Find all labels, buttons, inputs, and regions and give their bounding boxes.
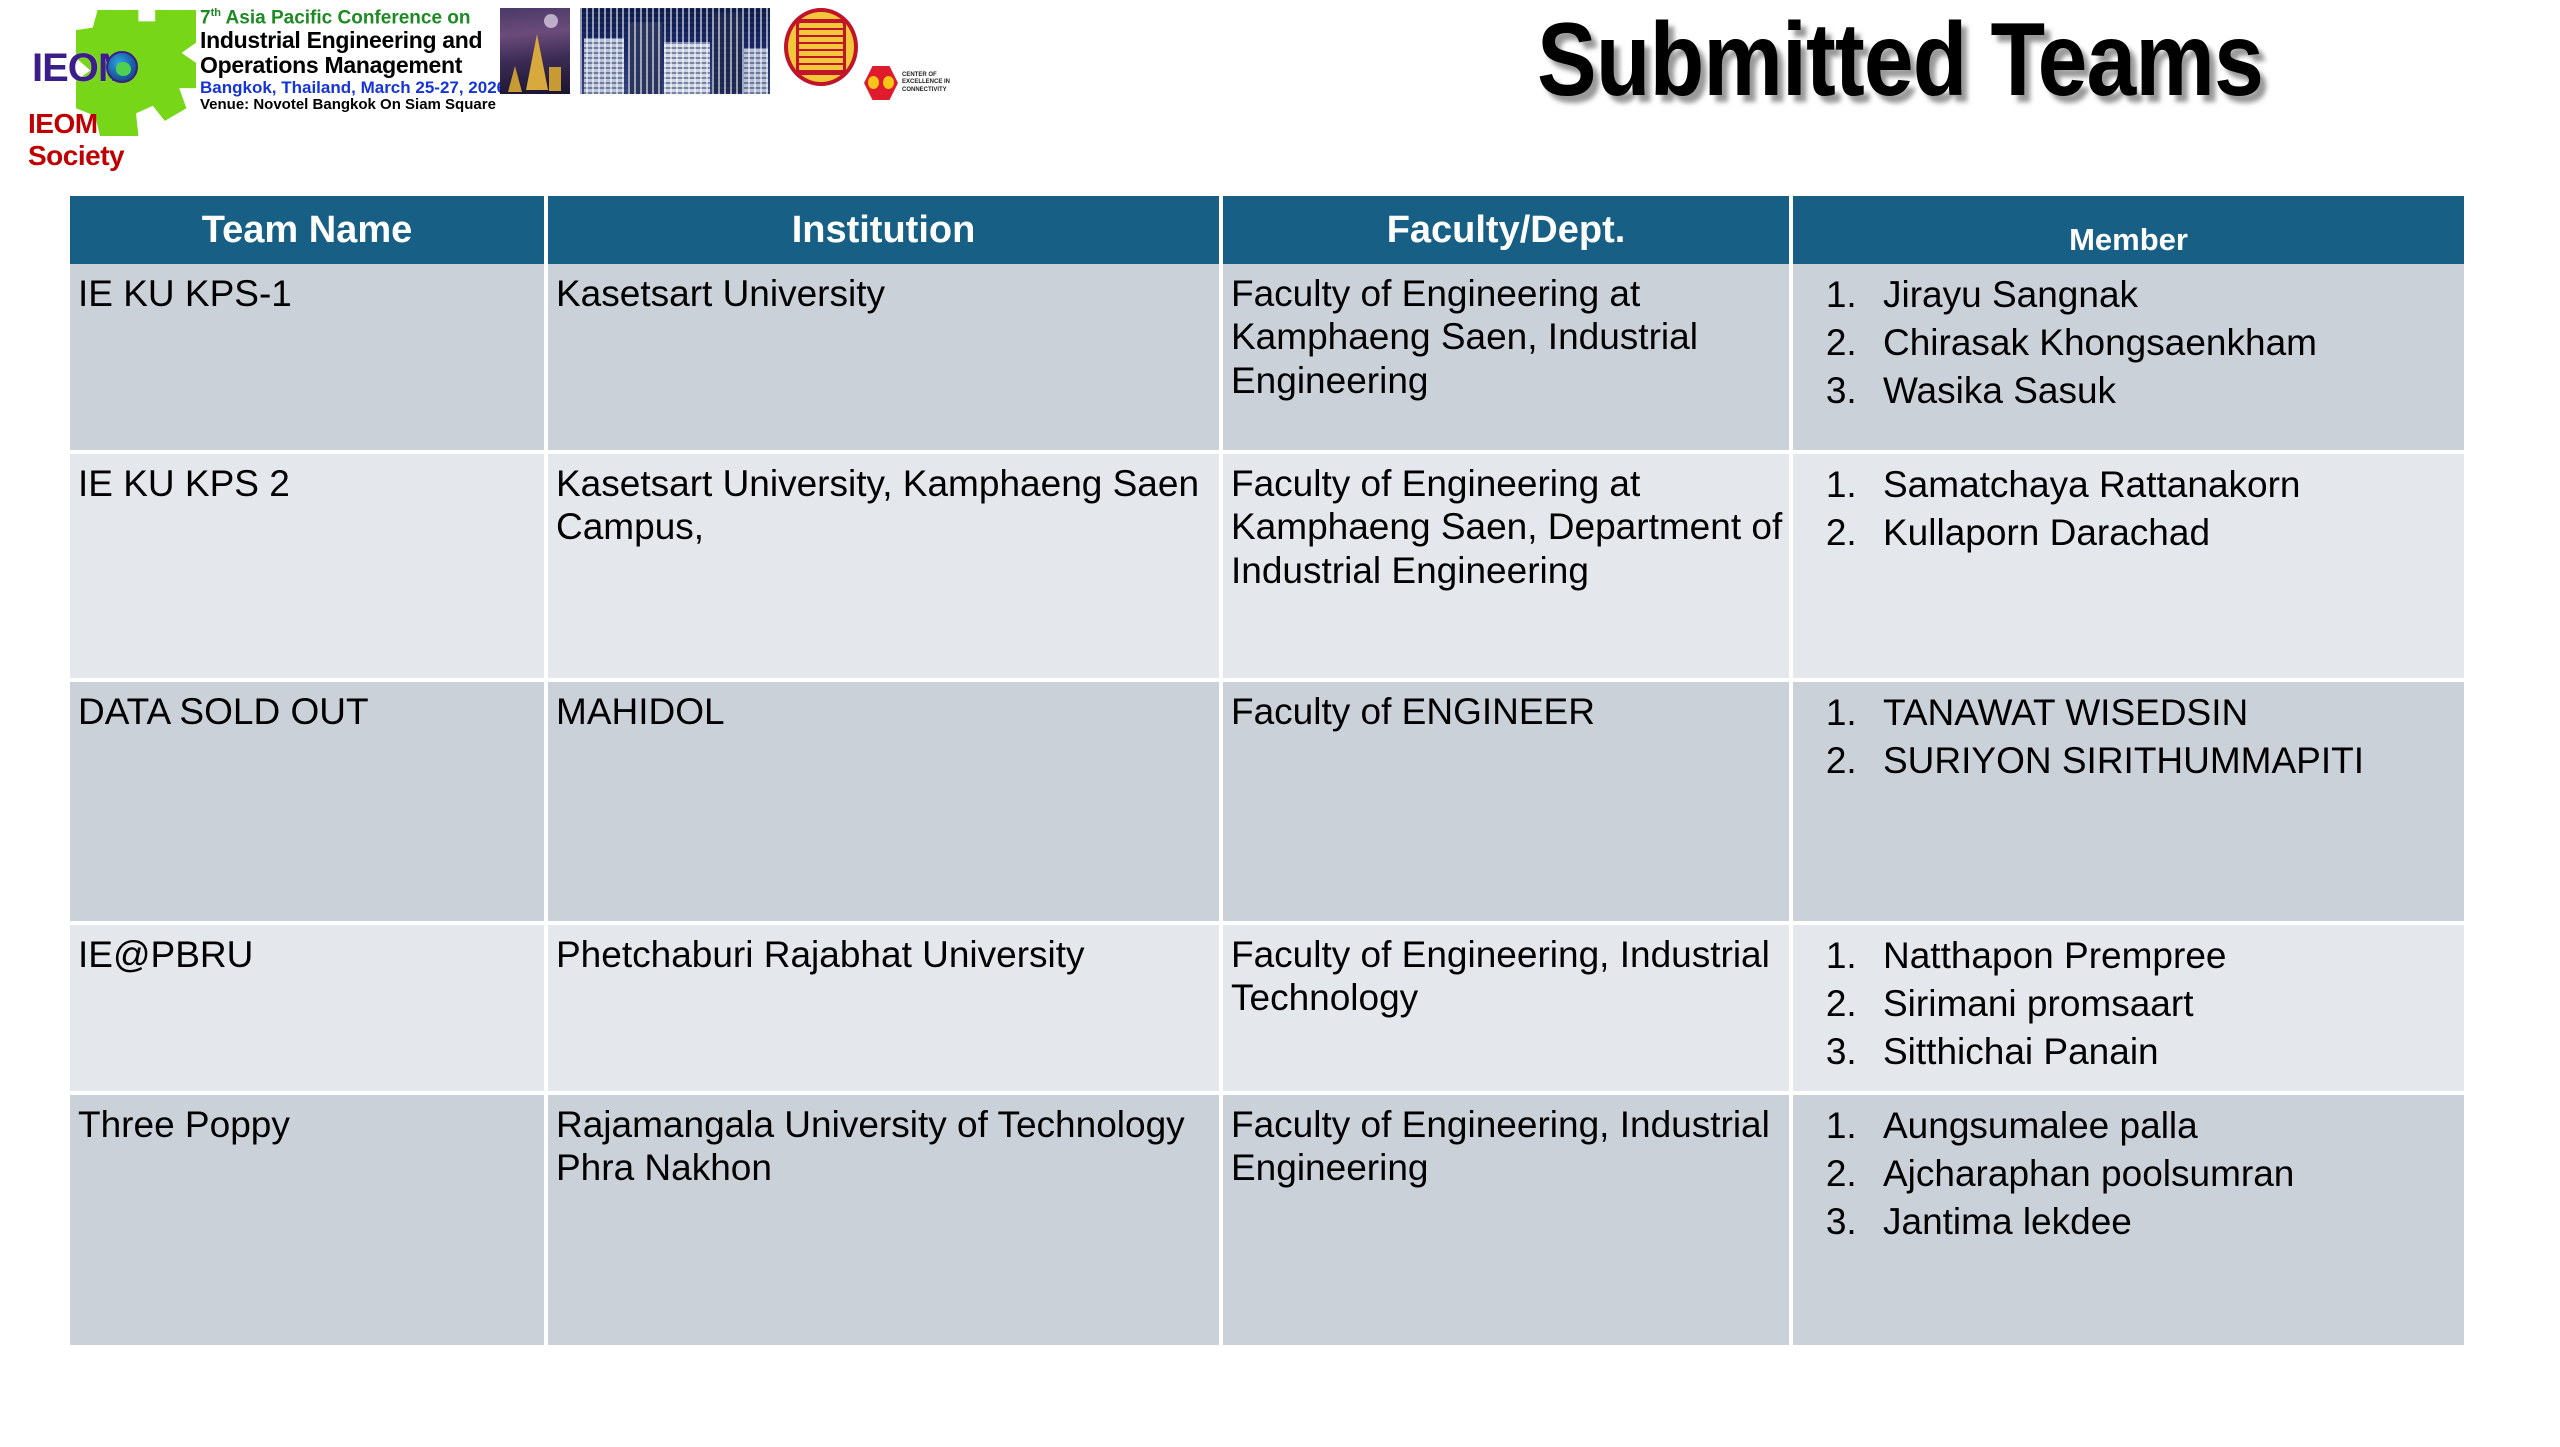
conference-ordinal-number: 7 — [200, 7, 211, 28]
building-shape — [628, 22, 662, 94]
column-header-team-name: Team Name — [70, 196, 548, 264]
coe-line1: CENTER OF — [902, 72, 950, 80]
member-list-item: Ajcharaphan poolsumran — [1867, 1151, 2458, 1197]
cell-faculty-dept: Faculty of Engineering, Industrial Engin… — [1223, 1095, 1793, 1345]
cell-faculty-dept: Faculty of Engineering at Kamphaeng Saen… — [1223, 264, 1793, 454]
member-list-item: Natthapon Prempree — [1867, 933, 2458, 979]
table-row: IE KU KPS 2 Kasetsart University, Kampha… — [70, 454, 2464, 682]
conference-banner: IEOM IEOM Society 7th Asia Pacific Confe… — [22, 4, 1082, 152]
cell-faculty-dept: Faculty of Engineering, Industrial Techn… — [1223, 925, 1793, 1095]
member-list-item: TANAWAT WISEDSIN — [1867, 690, 2458, 736]
cell-member: TANAWAT WISEDSINSURIYON SIRITHUMMAPITI — [1793, 682, 2464, 925]
conference-series-name: Asia Pacific Conference on — [221, 7, 471, 28]
cell-institution: Rajamangala University of Technology Phr… — [548, 1095, 1223, 1345]
member-list-item: Sitthichai Panain — [1867, 1029, 2458, 1075]
conference-location-date: Bangkok, Thailand, March 25-27, 2026 — [200, 79, 490, 97]
cell-team-name: IE@PBRU — [70, 925, 548, 1095]
cell-institution: Kasetsart University, Kamphaeng Saen Cam… — [548, 454, 1223, 682]
cell-institution: Kasetsart University — [548, 264, 1223, 454]
cell-faculty-dept: Faculty of ENGINEER — [1223, 682, 1793, 925]
cell-team-name: DATA SOLD OUT — [70, 682, 548, 925]
member-list: Natthapon PrempreeSirimani promsaartSitt… — [1801, 933, 2458, 1075]
cell-member: Aungsumalee pallaAjcharaphan poolsumranJ… — [1793, 1095, 2464, 1345]
member-list-item: Jantima lekdee — [1867, 1199, 2458, 1245]
university-seal-icon — [784, 8, 858, 86]
coe-line3: CONNECTIVITY — [902, 87, 950, 95]
member-list-item: Kullaporn Darachad — [1867, 510, 2458, 556]
member-list-item: SURIYON SIRITHUMMAPITI — [1867, 738, 2458, 784]
globe-icon — [106, 51, 138, 83]
cell-faculty-dept: Faculty of Engineering at Kamphaeng Saen… — [1223, 454, 1793, 682]
cell-member: Jirayu SangnakChirasak KhongsaenkhamWasi… — [1793, 264, 2464, 454]
column-header-institution: Institution — [548, 196, 1223, 264]
member-list-item: Jirayu Sangnak — [1867, 272, 2458, 318]
member-list: Jirayu SangnakChirasak KhongsaenkhamWasi… — [1801, 272, 2458, 414]
conference-info: 7th Asia Pacific Conference on Industria… — [200, 4, 490, 113]
novotel-hotel-photo — [580, 8, 770, 94]
conference-ordinal-suffix: th — [211, 7, 221, 19]
ieom-society-text: IEOM Society — [28, 108, 200, 172]
building-shape — [712, 14, 742, 94]
table-row: IE@PBRU Phetchaburi Rajabhat University … — [70, 925, 2464, 1095]
moon-icon — [544, 14, 558, 28]
cell-institution: Phetchaburi Rajabhat University — [548, 925, 1223, 1095]
table-row: Three Poppy Rajamangala University of Te… — [70, 1095, 2464, 1345]
hexagon-icon — [864, 66, 898, 100]
table-header-row: Team Name Institution Faculty/Dept. Memb… — [70, 196, 2464, 264]
conference-title-line2: Operations Management — [200, 53, 490, 77]
center-of-excellence-text: CENTER OF EXCELLENCE IN CONNECTIVITY — [902, 72, 950, 95]
member-list: Aungsumalee pallaAjcharaphan poolsumranJ… — [1801, 1103, 2458, 1245]
coe-line2: EXCELLENCE IN — [902, 79, 950, 87]
member-list-item: Aungsumalee palla — [1867, 1103, 2458, 1149]
member-list-item: Samatchaya Rattanakorn — [1867, 462, 2458, 508]
submitted-teams-table: Team Name Institution Faculty/Dept. Memb… — [70, 196, 2464, 1345]
cell-team-name: Three Poppy — [70, 1095, 548, 1345]
conference-venue: Venue: Novotel Bangkok On Siam Square — [200, 97, 490, 113]
table-header: Team Name Institution Faculty/Dept. Memb… — [70, 196, 2464, 264]
member-list-item: Chirasak Khongsaenkham — [1867, 320, 2458, 366]
building-shape — [664, 42, 710, 94]
member-list-item: Sirimani promsaart — [1867, 981, 2458, 1027]
cell-member: Samatchaya RattanakornKullaporn Darachad — [1793, 454, 2464, 682]
member-list: Samatchaya RattanakornKullaporn Darachad — [1801, 462, 2458, 556]
table-body: IE KU KPS-1 Kasetsart University Faculty… — [70, 264, 2464, 1345]
column-header-faculty-dept: Faculty/Dept. — [1223, 196, 1793, 264]
building-shape — [584, 38, 624, 94]
temple-photo — [500, 8, 570, 94]
member-list: TANAWAT WISEDSINSURIYON SIRITHUMMAPITI — [1801, 690, 2458, 784]
cell-team-name: IE KU KPS 2 — [70, 454, 548, 682]
conference-title-line1: Industrial Engineering and — [200, 28, 490, 52]
building-shape — [744, 48, 768, 94]
page-title: Submitted Teams — [1358, 8, 2442, 112]
cell-institution: MAHIDOL — [548, 682, 1223, 925]
table-row: DATA SOLD OUT MAHIDOL Faculty of ENGINEE… — [70, 682, 2464, 925]
table-row: IE KU KPS-1 Kasetsart University Faculty… — [70, 264, 2464, 454]
member-list-item: Wasika Sasuk — [1867, 368, 2458, 414]
center-of-excellence-logo: CENTER OF EXCELLENCE IN CONNECTIVITY — [864, 66, 950, 100]
ieom-logo: IEOM IEOM Society — [22, 4, 200, 152]
column-header-member: Member — [1793, 196, 2464, 264]
cell-team-name: IE KU KPS-1 — [70, 264, 548, 454]
conference-edition-line: 7th Asia Pacific Conference on — [200, 8, 490, 28]
cell-member: Natthapon PrempreeSirimani promsaartSitt… — [1793, 925, 2464, 1095]
